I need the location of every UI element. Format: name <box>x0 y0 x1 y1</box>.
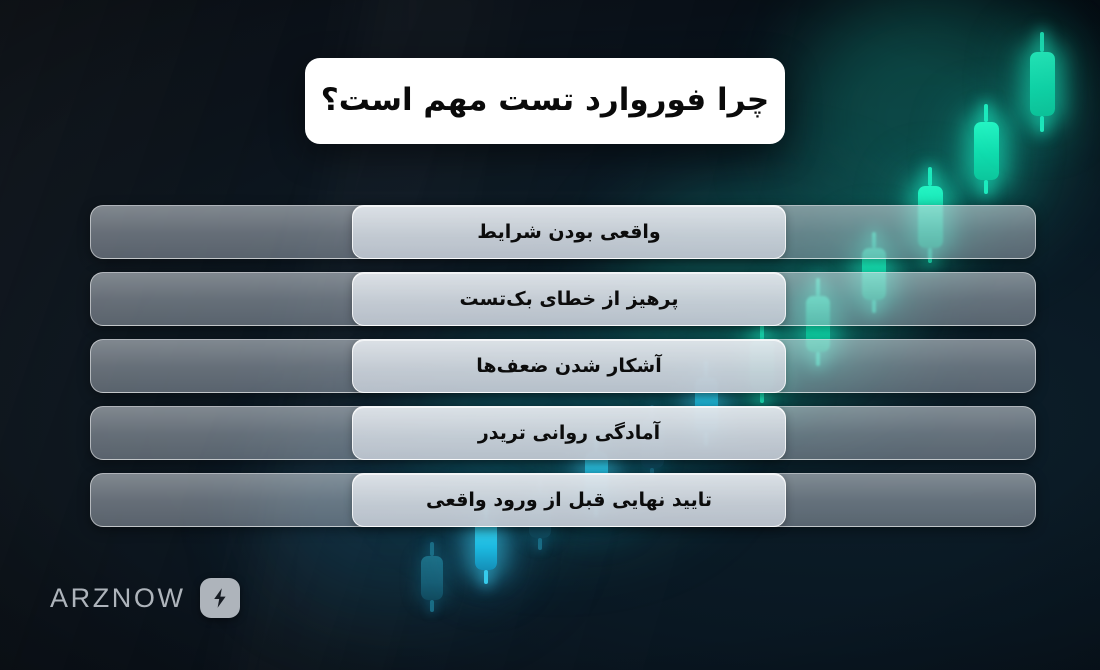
list-item[interactable]: آشکار شدن ضعف‌ها <box>90 339 1036 393</box>
candlestick-wick-top <box>430 542 434 556</box>
list-item[interactable]: واقعی بودن شرایط <box>90 205 1036 259</box>
lightning-bolt-icon <box>200 578 240 618</box>
list-item[interactable]: تایید نهایی قبل از ورود واقعی <box>90 473 1036 527</box>
candlestick-wick-bottom <box>484 570 488 584</box>
list-item-pill: پرهیز از خطای بک‌تست <box>352 272 786 326</box>
benefit-list: واقعی بودن شرایط پرهیز از خطای بک‌تست آش… <box>90 205 1036 540</box>
list-item-label: واقعی بودن شرایط <box>477 223 660 242</box>
brand-name: ARZNOW <box>50 583 186 614</box>
candlestick-body <box>421 556 443 600</box>
candlestick <box>1030 52 1055 116</box>
list-item-label: آمادگی روانی تریدر <box>478 424 660 443</box>
list-item-pill: آمادگی روانی تریدر <box>352 406 786 460</box>
list-item[interactable]: پرهیز از خطای بک‌تست <box>90 272 1036 326</box>
list-item-label: آشکار شدن ضعف‌ها <box>476 357 661 376</box>
candlestick-body <box>1030 52 1055 116</box>
candlestick-wick-bottom <box>1040 116 1044 132</box>
candlestick <box>974 122 999 180</box>
list-item-label: تایید نهایی قبل از ورود واقعی <box>426 491 712 510</box>
candlestick-wick-top <box>1040 32 1044 52</box>
candlestick-wick-top <box>928 167 932 186</box>
brand-logo[interactable]: ARZNOW <box>50 578 240 618</box>
candlestick-body <box>974 122 999 180</box>
candlestick-wick-top <box>984 104 988 122</box>
candlestick <box>421 556 443 600</box>
candlestick-wick-bottom <box>430 600 434 612</box>
infographic-canvas: چرا فوروارد تست مهم است؟ واقعی بودن شرای… <box>0 0 1100 670</box>
list-item-label: پرهیز از خطای بک‌تست <box>460 290 679 309</box>
list-item-pill: تایید نهایی قبل از ورود واقعی <box>352 473 786 527</box>
page-title: چرا فوروارد تست مهم است؟ <box>321 82 770 119</box>
list-item[interactable]: آمادگی روانی تریدر <box>90 406 1036 460</box>
list-item-pill: آشکار شدن ضعف‌ها <box>352 339 786 393</box>
list-item-pill: واقعی بودن شرایط <box>352 205 786 259</box>
candlestick-wick-bottom <box>984 180 988 194</box>
title-card: چرا فوروارد تست مهم است؟ <box>305 58 785 144</box>
